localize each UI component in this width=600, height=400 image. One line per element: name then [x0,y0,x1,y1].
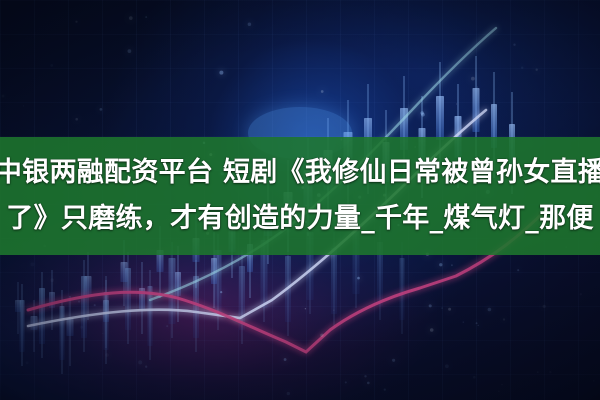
sparkle-dot [430,328,434,332]
candle-body [331,248,337,314]
sparkle-dot [2,95,5,98]
sparkle-dot [429,304,432,307]
sparkle-dot [30,262,34,266]
candle-body [39,288,45,344]
sparkle-dot [26,361,29,364]
sparkle-dot [287,392,290,395]
sparkle-dot [129,16,133,20]
sparkle-dot [488,308,492,312]
candle-body [125,268,131,330]
sparkle-dot [78,301,80,303]
sparkle-dot [364,375,366,377]
sparkle-dot [128,49,132,53]
sparkle-dot [441,307,442,308]
sparkle-dot [498,390,500,392]
candle-body [215,250,222,316]
candle-body [400,258,405,320]
sparkle-dot [138,360,142,364]
candle-body [81,276,87,338]
sparkle-dot [543,305,546,308]
sparkle-dot [333,310,334,311]
sparkle-dot [463,321,464,322]
sparkle-dot [80,326,83,329]
sparkle-dot [320,334,323,337]
candle-body [436,96,444,140]
candle-body [148,286,153,346]
sparkle-dot [536,69,538,71]
sparkle-dot [305,308,306,309]
sparkle-dot [420,111,424,115]
sparkle-dot [448,308,451,311]
sparkle-dot [219,71,223,75]
sparkle-dot [23,105,24,106]
sparkle-dot [451,264,453,266]
banner-image: 中银两融配资平台 短剧《我修仙日常被曾孙女直播 了》只磨练，才有创造的力量_千年… [0,0,600,400]
candle-body [175,272,181,296]
candle-body [60,306,65,360]
sparkle-dot [593,380,595,382]
sparkle-dot [105,353,109,357]
sparkle-dot [439,263,442,266]
sparkle-dot [321,90,324,93]
sparkle-dot [75,21,77,23]
candle-body [67,318,74,336]
sparkle-dot [50,64,53,67]
sparkle-dot [367,382,370,385]
sparkle-dot [477,87,478,88]
candle-body [473,88,480,132]
sparkle-dot [476,322,478,324]
candle-body [49,292,55,308]
banner-title-line-1: 中银两融配资平台 短剧《我修仙日常被曾孙女直播 [0,150,600,196]
sparkle-dot [100,108,103,111]
sparkle-dot [392,359,395,362]
sparkle-dot [145,16,147,18]
sparkle-dot [445,364,449,368]
title-banner: 中银两融配资平台 短剧《我修仙日常被曾孙女直播 了》只磨练，才有创造的力量_千年… [0,137,600,255]
sparkle-dot [94,304,96,306]
candle-body [104,292,109,350]
sparkle-dot [145,366,147,368]
banner-title-line-2: 了》只磨练，才有创造的力量_千年_煤气灯_那便 [6,196,593,242]
sparkle-dot [100,370,102,372]
sparkle-dot [357,277,360,280]
sparkle-dot [513,44,515,46]
sparkle-dot [503,318,505,320]
sparkle-dot [477,325,478,326]
sparkle-dot [537,371,539,373]
sparkle-dot [345,381,347,383]
sparkle-dot [220,291,222,293]
sparkle-dot [248,22,252,26]
candle-body [20,300,25,352]
sparkle-dot [75,118,78,121]
sparkle-dot [102,333,103,334]
sparkle-dot [50,278,54,282]
sparkle-dot [580,293,582,295]
sparkle-dot [166,325,168,327]
sparkle-dot [284,358,287,361]
sparkle-dot [471,77,475,81]
sparkle-dot [384,388,386,390]
sparkle-dot [521,66,523,68]
candle-body [193,276,199,338]
sparkle-dot [517,269,519,271]
sparkle-dot [501,384,503,386]
sparkle-dot [456,103,457,104]
sparkle-dot [549,371,551,373]
sparkle-dot [473,376,476,379]
